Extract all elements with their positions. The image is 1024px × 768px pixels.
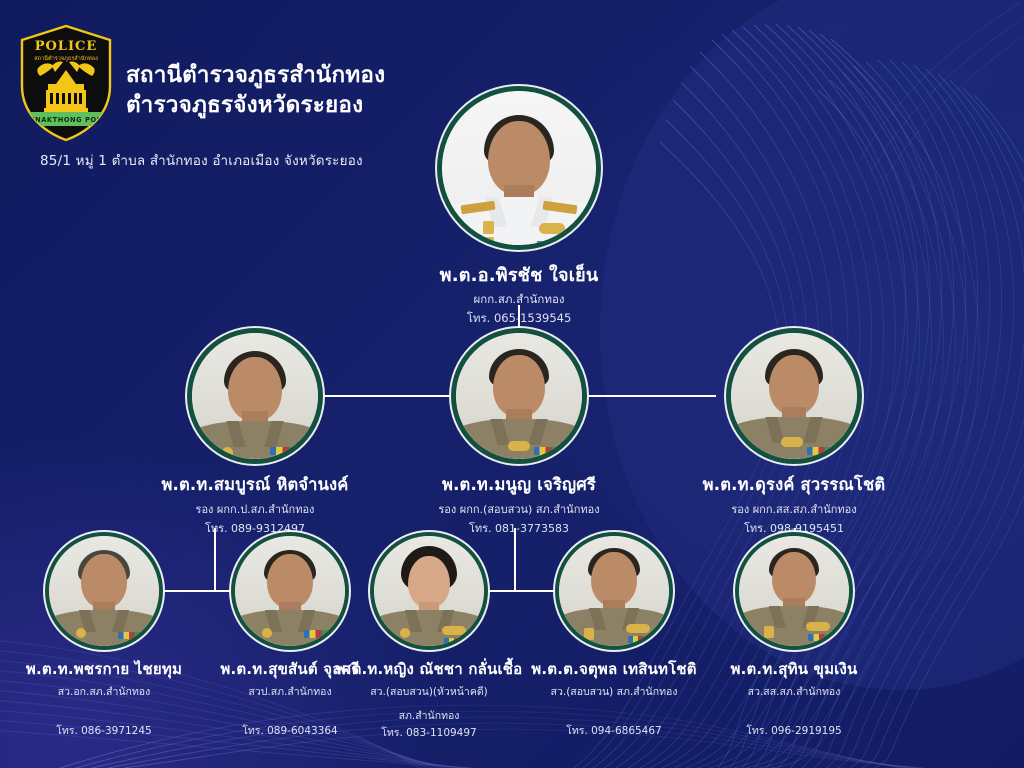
portrait-admin-inspector bbox=[49, 536, 159, 646]
org-chart-poster: POLICE สถานีตำรวจภูธรสำนักทอง bbox=[0, 0, 1024, 768]
connector-drop-prevention bbox=[214, 528, 216, 591]
portrait-ring bbox=[231, 532, 349, 650]
portrait-commander bbox=[442, 91, 596, 245]
officer-phone: โทร. 096-2919195 bbox=[629, 722, 959, 739]
portrait-case-chief-inspector bbox=[374, 536, 484, 646]
connector-drop-investigation bbox=[514, 528, 516, 591]
officer-name: พ.ต.ท.สุทิน ขุมเงิน bbox=[629, 657, 959, 681]
portrait-detective-inspector bbox=[739, 536, 849, 646]
portrait-deputy-detective bbox=[731, 333, 857, 459]
portrait-investigation-inspector bbox=[559, 536, 669, 646]
portrait-deputy-prevention bbox=[192, 333, 318, 459]
node-caption: พ.ต.อ.พิรชัช ใจเย็น ผกก.สภ.สำนักทอง โทร.… bbox=[354, 260, 684, 328]
portrait-ring bbox=[187, 328, 323, 464]
org-address: 85/1 หมู่ 1 ตำบล สำนักทอง อำเภอเมือง จัง… bbox=[40, 149, 448, 171]
officer-role: สว.สส.สภ.สำนักทอง bbox=[629, 683, 959, 700]
portrait-ring bbox=[555, 532, 673, 650]
org-name-line1: สถานีตำรวจภูธรสำนักทอง bbox=[126, 60, 385, 90]
connector-level2-right bbox=[588, 395, 716, 397]
officer-name: พ.ต.อ.พิรชัช ใจเย็น bbox=[354, 260, 684, 289]
portrait-ring bbox=[45, 532, 163, 650]
org-name-line2: ตำรวจภูธรจังหวัดระยอง bbox=[126, 90, 385, 120]
officer-name: พ.ต.ท.ดุรงค์ สุวรรณโชติ bbox=[629, 472, 959, 498]
connector-level2-left bbox=[323, 395, 451, 397]
police-badge-logo: POLICE สถานีตำรวจภูธรสำนักทอง bbox=[18, 24, 114, 142]
poster-header: POLICE สถานีตำรวจภูธรสำนักทอง bbox=[18, 24, 448, 171]
svg-text:สถานีตำรวจภูธรสำนักทอง: สถานีตำรวจภูธรสำนักทอง bbox=[34, 55, 98, 62]
portrait-ring bbox=[437, 86, 601, 250]
officer-phone: โทร. 065-1539545 bbox=[354, 310, 684, 328]
portrait-ring bbox=[726, 328, 862, 464]
portrait-ring bbox=[370, 532, 488, 650]
officer-role: รอง ผกก.สส.สภ.สำนักทอง bbox=[629, 500, 959, 518]
connector-level3-a bbox=[164, 590, 216, 592]
officer-role: ผกก.สภ.สำนักทอง bbox=[354, 291, 684, 309]
portrait-deputy-investigation bbox=[456, 333, 582, 459]
node-caption: พ.ต.ท.สุทิน ขุมเงิน สว.สส.สภ.สำนักทอง โท… bbox=[629, 657, 959, 739]
portrait-ring bbox=[735, 532, 853, 650]
portrait-prevention-inspector bbox=[235, 536, 345, 646]
node-caption: พ.ต.ท.ดุรงค์ สุวรรณโชติ รอง ผกก.สส.สภ.สำ… bbox=[629, 472, 959, 537]
portrait-ring bbox=[451, 328, 587, 464]
svg-text:POLICE: POLICE bbox=[35, 39, 98, 54]
